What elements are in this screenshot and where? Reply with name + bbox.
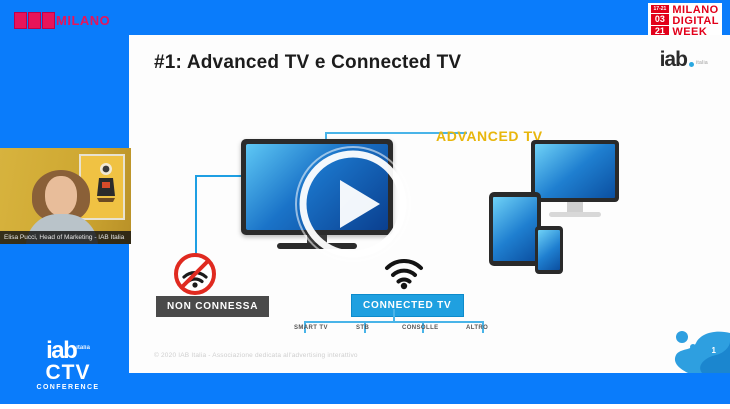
- ctv-logo-ctv: CTV: [14, 362, 122, 383]
- milano-digital-week-logo: 17-21 03 21 MILANO DIGITAL WEEK: [648, 3, 722, 39]
- ted-block-1: [14, 12, 27, 29]
- ctv-logo-iab: iabitalia: [14, 337, 122, 362]
- smartphone-illustration: [535, 226, 563, 274]
- non-connessa-badge: NON CONNESSA: [156, 296, 269, 317]
- fanout-horizontal-bar: [304, 321, 484, 323]
- ctv-logo-iab-text: iab: [46, 337, 76, 364]
- mdw-words: MILANO DIGITAL WEEK: [672, 5, 719, 37]
- device-label-smart-tv: SMART TV: [294, 325, 328, 331]
- wall-artwork-figure: [95, 162, 117, 202]
- monitor-screen: [535, 144, 615, 198]
- mdw-dates: 17-21 03 21: [651, 5, 670, 37]
- iab-logo-dot: [689, 62, 694, 67]
- mdw-word-milano: MILANO: [672, 5, 719, 15]
- speaker-name-caption: Elisa Pucci, Head of Marketing - IAB Ita…: [0, 231, 131, 244]
- device-type-labels: SMART TV STB CONSOLLE ALTRO: [294, 325, 494, 339]
- monitor-bezel: [531, 140, 619, 202]
- device-label-consolle: CONSOLLE: [402, 325, 439, 331]
- speaker-face: [45, 176, 77, 216]
- tablet-screen: [493, 197, 537, 261]
- iab-logo-suffix: italia: [696, 60, 708, 66]
- tablet-illustration: [489, 192, 541, 266]
- ctv-logo-conference: CONFERENCE: [14, 383, 122, 392]
- ted-block-2: [28, 12, 41, 29]
- slide-corner-blob: [662, 321, 730, 373]
- iab-italia-logo: iab italia: [660, 51, 708, 69]
- connected-devices-illustration: [489, 140, 619, 280]
- bottom-white-strip: [0, 404, 730, 409]
- slide-title: #1: Advanced TV e Connected TV: [154, 52, 461, 74]
- ted-milano-logo: MILANO: [14, 12, 110, 28]
- tv-to-nowifi-connector: [195, 175, 245, 262]
- iab-logo-text: iab: [660, 51, 687, 69]
- desktop-monitor-illustration: [531, 140, 619, 228]
- tablet-bezel: [489, 192, 541, 266]
- presentation-slide: #1: Advanced TV e Connected TV iab itali…: [129, 35, 730, 373]
- device-label-stb: STB: [356, 325, 369, 331]
- mdw-date-month: 03: [651, 14, 670, 25]
- phone-screen: [538, 230, 560, 270]
- monitor-stand-base: [549, 212, 601, 217]
- phone-bezel: [535, 226, 563, 274]
- ted-logo-blocks: [14, 12, 55, 29]
- ted-block-3: [42, 12, 55, 29]
- slide-page-number: 1: [712, 346, 716, 355]
- ted-milano-word: MILANO: [56, 13, 110, 28]
- play-button[interactable]: [292, 143, 414, 265]
- mdw-word-digital: DIGITAL: [672, 16, 719, 26]
- slide-footer-copyright: © 2020 IAB Italia - Associazione dedicat…: [154, 352, 358, 359]
- ctv-logo-italia: italia: [76, 345, 90, 351]
- mdw-date-range: 17-21: [651, 5, 670, 13]
- device-label-altro: ALTRO: [466, 325, 488, 331]
- player-stage: MILANO 17-21 03 21 MILANO DIGITAL WEEK #…: [0, 0, 730, 409]
- fanout-stem: [393, 309, 395, 321]
- webcam-video[interactable]: Elisa Pucci, Head of Marketing - IAB Ita…: [0, 148, 131, 244]
- no-wifi-icon: [173, 252, 217, 296]
- ctv-conference-logo: iabitalia CTV CONFERENCE: [14, 337, 122, 392]
